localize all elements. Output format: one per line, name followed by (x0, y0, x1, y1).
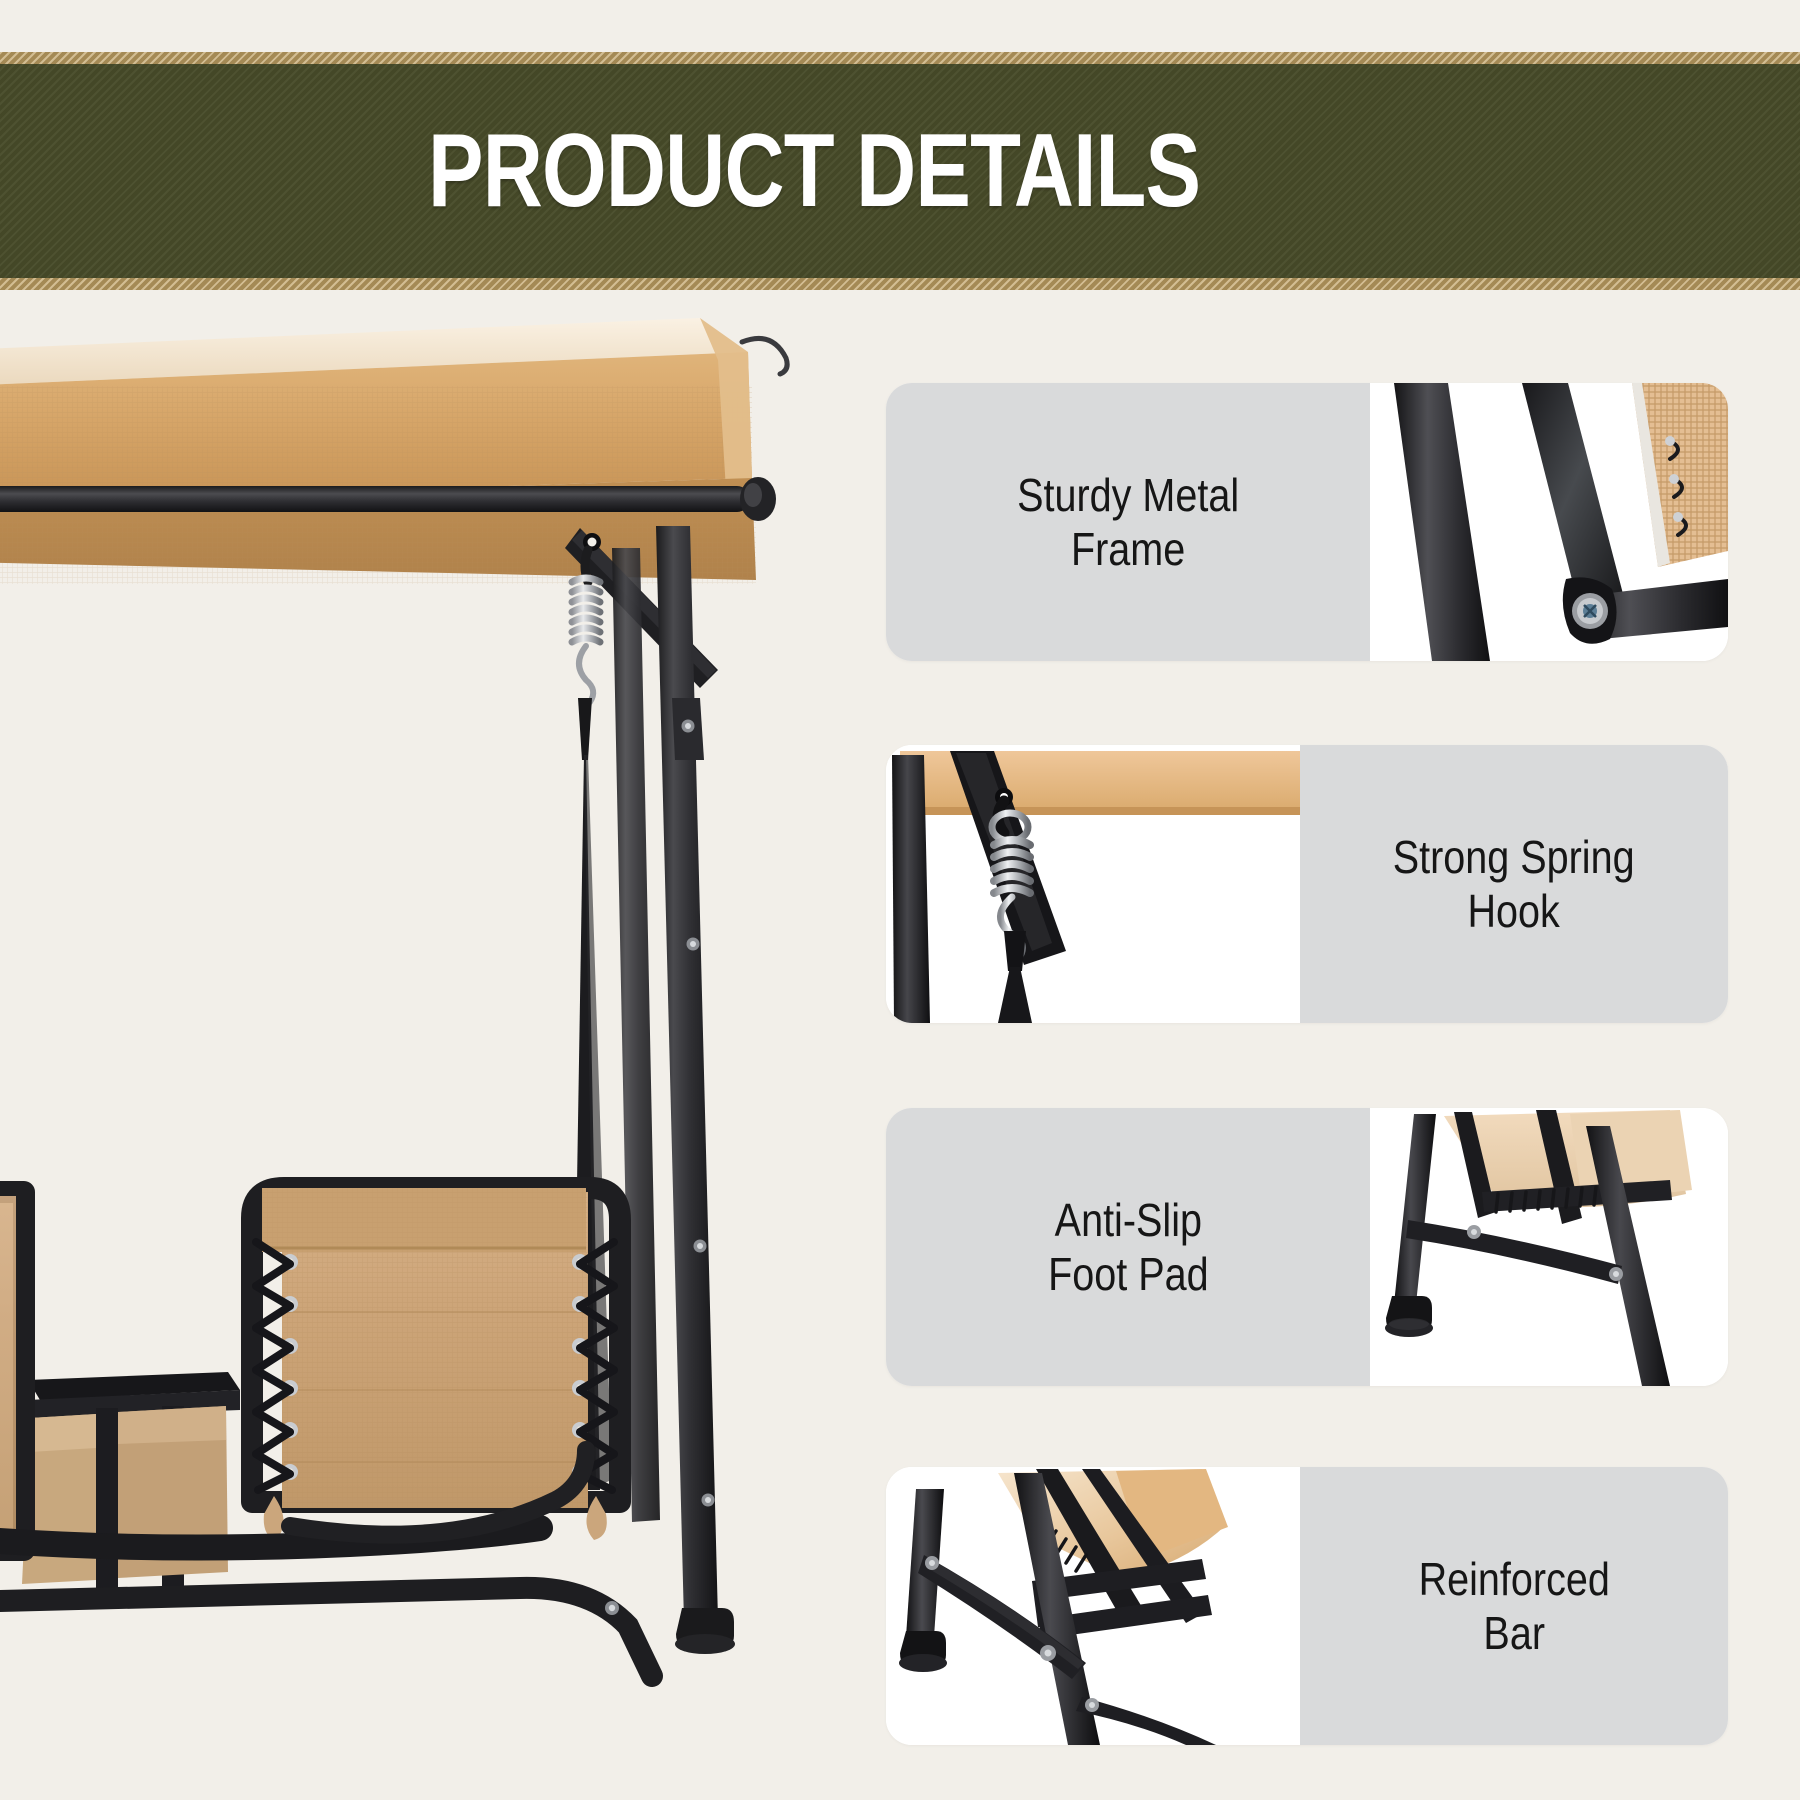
feature-photo-metal-frame (1370, 383, 1728, 661)
feature-card-sturdy-metal-frame[interactable]: Sturdy Metal Frame (886, 383, 1728, 661)
page-title-text: PRODUCT DETAILS (428, 119, 1200, 223)
feature-card-reinforced-bar[interactable]: Reinforced Bar (886, 1467, 1728, 1745)
page-title: PRODUCT DETAILS (428, 119, 1393, 223)
feature-label-text: Sturdy Metal Frame (1017, 468, 1239, 577)
feature-label-text: Reinforced Bar (1418, 1552, 1609, 1661)
hero-product-image (0, 290, 810, 1800)
banner-stripe-top (0, 52, 1800, 64)
feature-label-panel: Strong Spring Hook (1300, 745, 1728, 1023)
feature-photo-foot-pad (1370, 1108, 1728, 1386)
feature-card-list: Sturdy Metal Frame (876, 300, 1736, 1770)
banner-stripe-bottom (0, 278, 1800, 290)
feature-photo-reinforced-bar (886, 1467, 1300, 1745)
feature-label-text: Anti-Slip Foot Pad (1048, 1193, 1209, 1302)
feature-card-strong-spring-hook[interactable]: Strong Spring Hook (886, 745, 1728, 1023)
feature-label-panel: Reinforced Bar (1300, 1467, 1728, 1745)
feature-label-panel: Anti-Slip Foot Pad (886, 1108, 1370, 1386)
feature-card-anti-slip-foot-pad[interactable]: Anti-Slip Foot Pad (886, 1108, 1728, 1386)
feature-label-text: Strong Spring Hook (1393, 830, 1635, 939)
feature-label-panel: Sturdy Metal Frame (886, 383, 1370, 661)
feature-photo-spring-hook (886, 745, 1300, 1023)
page-header-banner: PRODUCT DETAILS (0, 52, 1800, 290)
